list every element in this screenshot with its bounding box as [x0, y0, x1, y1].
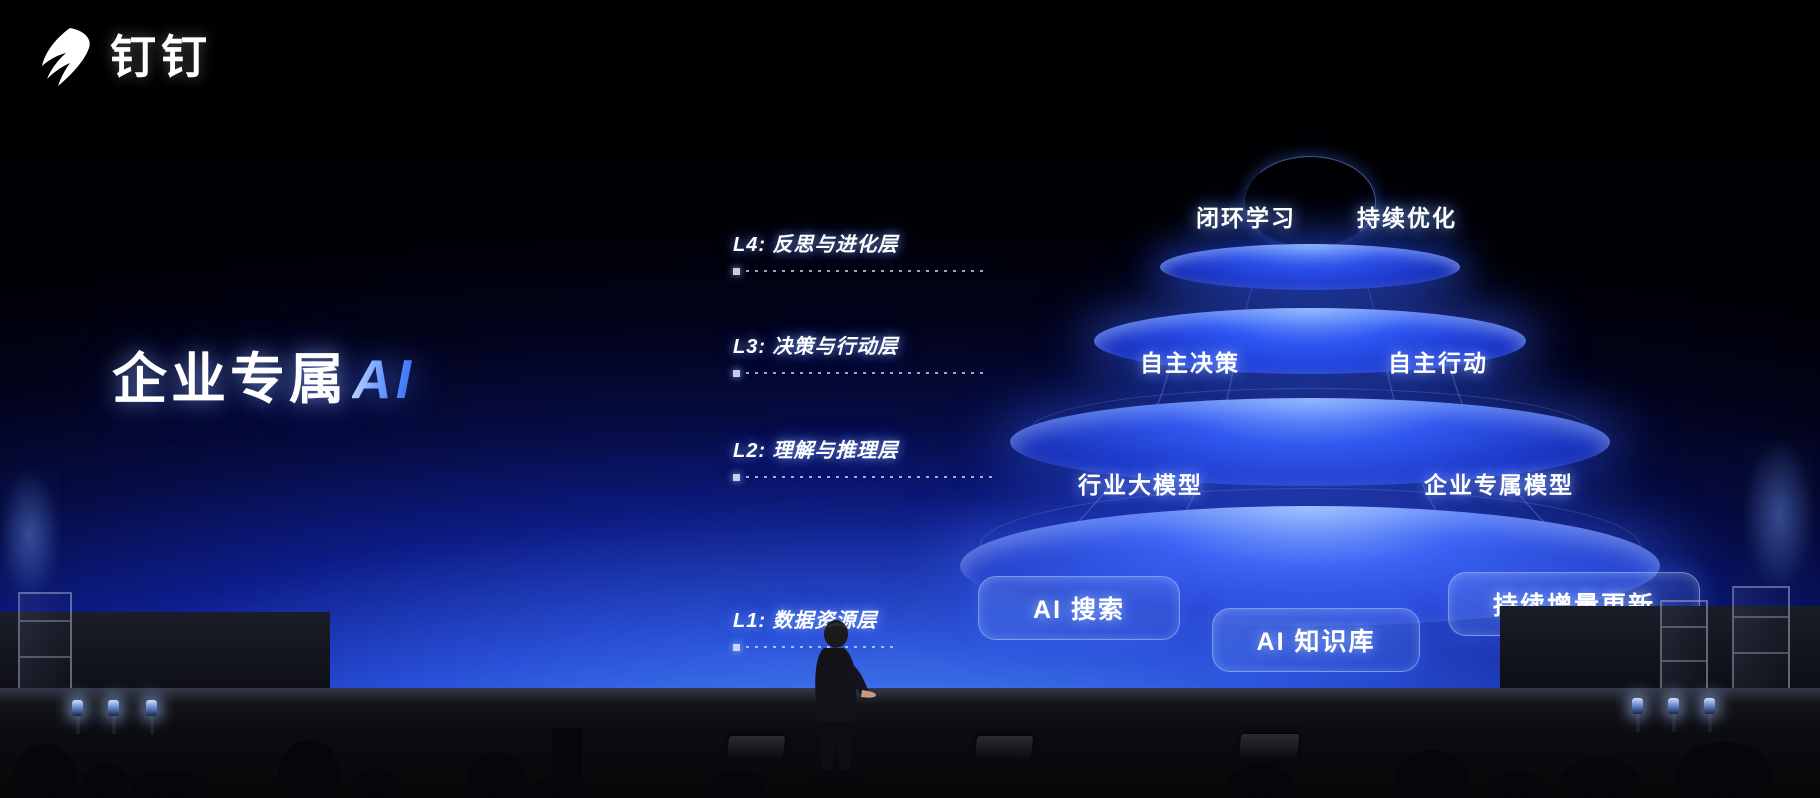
floor-lamp — [1668, 698, 1679, 714]
layer-leader-l3 — [733, 369, 983, 378]
layer-caption-l4: L4: 反思与进化层 — [733, 228, 983, 276]
stage-floor — [0, 688, 1820, 798]
layer-disc-l4 — [1160, 244, 1460, 290]
dingtalk-brand-lockup: 钉钉 — [36, 26, 212, 88]
floor-lamp — [1632, 698, 1643, 714]
audience-silhouette — [1228, 764, 1294, 798]
floor-lamp — [72, 700, 83, 716]
dingtalk-wordmark: 钉钉 — [110, 34, 212, 80]
audience-silhouette — [352, 768, 400, 798]
audience-silhouette — [468, 752, 526, 798]
floor-lamp-stand — [112, 716, 116, 734]
floor-lamp-stand — [76, 716, 80, 734]
layer-leader-l4 — [733, 267, 983, 276]
floor-lamp-stand — [1672, 714, 1676, 732]
stage-scene: 钉钉 企业专属AI 闭环学习 持续优化 L4: 反思与进化层 L3: 决策与行动… — [0, 0, 1820, 798]
floor-lamp-stand — [150, 716, 154, 734]
layer-caption-l2: L2: 理解与推理层 — [733, 434, 998, 482]
node-industry-large-model: 行业大模型 — [1078, 466, 1203, 500]
node-autonomous-action: 自主行动 — [1388, 344, 1488, 378]
dingtalk-wing-icon — [36, 26, 96, 88]
page-title-cn: 企业专属 — [112, 348, 348, 410]
layer-caption-l4-text: L4: 反思与进化层 — [733, 228, 983, 257]
stage-monitor — [727, 736, 786, 760]
floor-lamp — [146, 700, 157, 716]
page-title-ai: AI — [352, 348, 415, 410]
card-ai-search[interactable]: AI 搜索 — [978, 576, 1180, 640]
floor-lamp — [108, 700, 119, 716]
floor-lamp-stand — [1708, 714, 1712, 732]
floor-lamp — [1704, 698, 1715, 714]
layer-node-marker-icon — [733, 370, 740, 377]
audience-silhouette — [1560, 758, 1640, 798]
layer-caption-l3: L3: 决策与行动层 — [733, 330, 983, 378]
audience-silhouette — [712, 770, 764, 798]
layer-dotted-line — [746, 372, 983, 374]
node-enterprise-exclusive-model: 企业专属模型 — [1424, 466, 1574, 500]
audience-silhouette — [82, 764, 128, 798]
camera-rig-silhouette — [552, 728, 582, 798]
stage-monitor — [1239, 734, 1300, 760]
stage-glow-panel-left — [0, 470, 60, 600]
layer-caption-l2-text: L2: 理解与推理层 — [733, 434, 998, 463]
layer-dotted-line — [746, 476, 998, 478]
layer-node-marker-icon — [733, 474, 740, 481]
label-continuous-optimization: 持续优化 — [1357, 199, 1457, 233]
stage-glow-panel-right — [1744, 440, 1814, 590]
page-title: 企业专属AI — [112, 352, 415, 407]
layer-dotted-line — [746, 270, 983, 272]
floor-lamp-stand — [1636, 714, 1640, 732]
layer-node-marker-icon — [733, 644, 740, 651]
stage-monitor — [975, 736, 1034, 760]
node-autonomous-decision: 自主决策 — [1140, 344, 1240, 378]
layer-node-marker-icon — [733, 268, 740, 275]
presenter — [806, 618, 876, 786]
audience-silhouette — [1490, 772, 1544, 798]
layer-leader-l2 — [733, 473, 998, 482]
label-closed-loop-learning: 闭环学习 — [1196, 199, 1296, 233]
stage-floor-edge — [0, 688, 1820, 704]
layer-caption-l3-text: L3: 决策与行动层 — [733, 330, 983, 359]
card-ai-knowledge-base[interactable]: AI 知识库 — [1212, 608, 1420, 672]
audience-silhouette — [132, 770, 202, 798]
